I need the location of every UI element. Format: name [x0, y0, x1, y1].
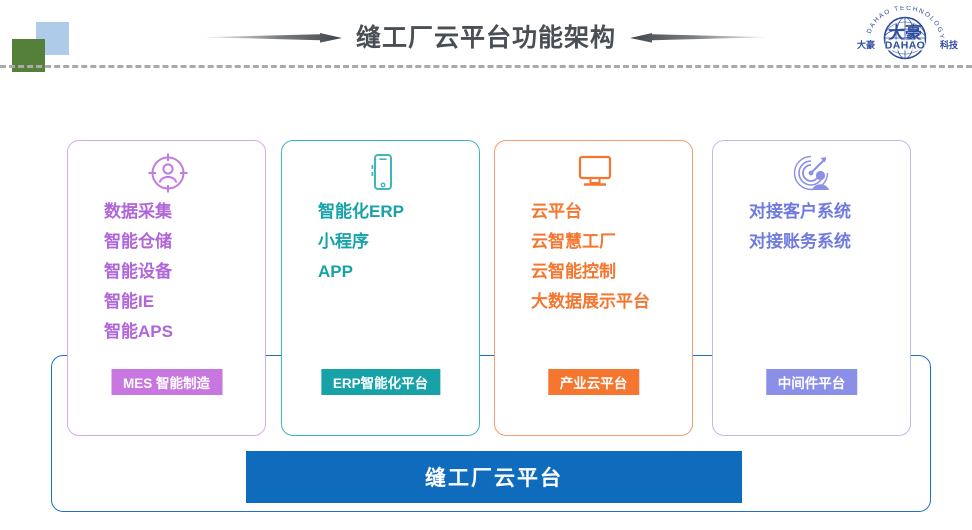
dashed-divider	[0, 65, 972, 68]
smartphone-icon	[282, 149, 481, 197]
card-item: 云智慧工厂	[531, 227, 694, 257]
card-item: 云平台	[531, 197, 694, 227]
card-item: 数据采集	[104, 197, 267, 227]
card-item: 对接客户系统	[749, 197, 912, 227]
card-item: 智能化ERP	[318, 197, 481, 227]
card-item: 大数据展示平台	[531, 287, 694, 317]
dahao-globe-logo: DAHAO TECHNOLOGY 大豪 DAHAO 大豪 科技	[846, 6, 964, 64]
card-erp[interactable]: 智能化ERP 小程序 APP ERP智能化平台	[281, 140, 480, 436]
card-item: 智能设备	[104, 257, 267, 287]
target-arrow-person-icon	[713, 149, 912, 197]
card-item: 小程序	[318, 227, 481, 257]
card-middleware-badge[interactable]: 中间件平台	[766, 369, 858, 395]
card-mes-items: 数据采集 智能仓储 智能设备 智能IE 智能APS	[68, 197, 267, 347]
title-block: 缝工厂云平台功能架构	[0, 18, 972, 58]
tapered-arrow-right-icon	[202, 33, 342, 43]
card-item: APP	[318, 257, 481, 287]
target-person-icon	[68, 149, 267, 197]
card-middleware[interactable]: 对接客户系统 对接账务系统 中间件平台	[712, 140, 911, 436]
brand-left-text: 大豪	[857, 39, 875, 50]
card-cloud-items: 云平台 云智慧工厂 云智能控制 大数据展示平台	[495, 197, 694, 317]
monitor-icon	[495, 149, 694, 197]
card-cloud[interactable]: 云平台 云智慧工厂 云智能控制 大数据展示平台 产业云平台	[494, 140, 693, 436]
card-cloud-badge[interactable]: 产业云平台	[548, 369, 640, 395]
card-item: 智能APS	[104, 317, 267, 347]
page-header: 缝工厂云平台功能架构 DAHAO TECHNOLOGY	[0, 0, 972, 70]
card-item: 云智能控制	[531, 257, 694, 287]
card-item: 智能IE	[104, 287, 267, 317]
card-item: 对接账务系统	[749, 227, 912, 257]
card-mes[interactable]: 数据采集 智能仓储 智能设备 智能IE 智能APS MES 智能制造	[67, 140, 266, 436]
card-erp-badge[interactable]: ERP智能化平台	[321, 369, 440, 395]
card-mes-badge[interactable]: MES 智能制造	[111, 369, 222, 395]
tapered-arrow-left-icon	[630, 33, 770, 43]
platform-bar[interactable]: 缝工厂云平台	[246, 451, 742, 503]
card-middleware-items: 对接客户系统 对接账务系统	[713, 197, 912, 257]
brand-right-text: 科技	[940, 39, 959, 50]
card-erp-items: 智能化ERP 小程序 APP	[282, 197, 481, 287]
platform-bar-label: 缝工厂云平台	[425, 462, 563, 492]
brand-banner-text: DAHAO	[885, 40, 926, 52]
card-item: 智能仓储	[104, 227, 267, 257]
page-title: 缝工厂云平台功能架构	[356, 26, 616, 51]
